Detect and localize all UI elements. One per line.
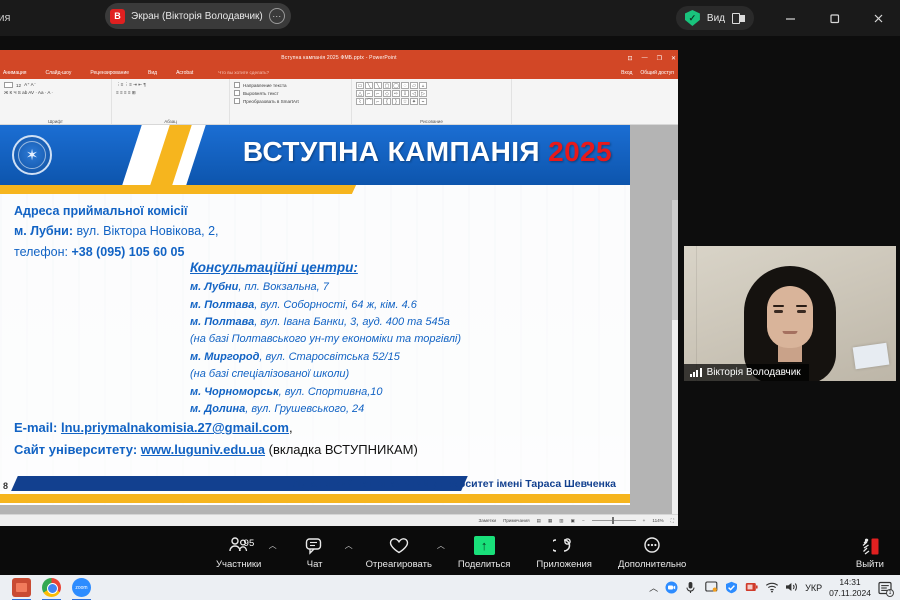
zoom-level-label: 114%	[652, 518, 663, 523]
microphone-icon[interactable]	[685, 581, 698, 594]
normal-view-icon[interactable]: ▤	[537, 518, 541, 524]
chrome-taskbar-icon[interactable]	[42, 578, 61, 597]
react-label: Отреагировать	[366, 559, 432, 570]
center-city: м. Миргород	[190, 351, 259, 363]
webcam-tile[interactable]: Вікторія Володавчик	[684, 246, 896, 381]
slide-vertical-scrollbar[interactable]	[672, 200, 678, 526]
ribbon-group-paragraph[interactable]: ⋮≡ ⋮≡ ⇥ ⇤ ¶ ≡ ≡ ≡ ≡ ⊞ Абзац	[112, 79, 230, 125]
sorter-view-icon[interactable]: ▦	[548, 518, 552, 524]
center-address: , пл. Вокзальна, 7	[238, 281, 329, 293]
close-icon[interactable]	[856, 0, 900, 36]
chevron-up-icon[interactable]: ︿	[649, 581, 658, 594]
phone-value: +38 (095) 105 60 05	[71, 245, 184, 259]
signin-link[interactable]: Вход	[621, 70, 632, 76]
address-phone-line: телефон: +38 (095) 105 60 05	[14, 242, 219, 262]
leave-door-icon	[859, 536, 881, 556]
convert-smartart-item[interactable]: Преобразовать в SmartArt	[243, 99, 299, 104]
center-item: м. Миргород, вул. Старосвітська 52/15	[190, 349, 620, 366]
participants-count: 95	[244, 538, 255, 549]
clock-date: 07.11.2024	[829, 588, 871, 598]
powerpoint-window[interactable]: Вступна кампанія 2025 ФМБ.pptx - PowerPo…	[0, 50, 678, 526]
consultation-centers-title: Консультаційні центри:	[190, 257, 620, 278]
ribbon-group-paragraph-label: Абзац	[112, 119, 229, 124]
clock-time: 14:31	[829, 577, 871, 587]
apps-icon	[553, 536, 575, 556]
leave-meeting-button[interactable]: Выйти	[856, 536, 884, 570]
slideshow-icon[interactable]: ▣	[571, 518, 575, 524]
signal-bars-icon	[690, 368, 702, 377]
center-address: , вул. Соборності, 64 ж, кім. 4.6	[254, 299, 417, 311]
chat-icon	[305, 536, 325, 556]
center-city: м. Чорноморськ	[190, 386, 279, 398]
contacts-block: E-mail: lnu.priymalnakomisia.27@gmail.co…	[14, 417, 418, 461]
notification-center-icon[interactable]: 1	[878, 581, 892, 595]
center-item: м. Долина, вул. Грушевського, 24	[190, 401, 620, 418]
minimize-icon[interactable]	[768, 0, 812, 36]
volume-icon[interactable]	[785, 581, 798, 594]
center-item: м. Лубни, пл. Вокзальна, 7	[190, 279, 620, 296]
share-screen-icon	[474, 536, 495, 555]
align-text-item[interactable]: Выровнять текст	[243, 91, 279, 96]
center-item: м. Полтава, вул. Івана Банки, 3, ауд. 40…	[190, 314, 620, 331]
apps-label: Приложения	[536, 559, 592, 570]
slide-header-banner: ✶ ВСТУПНА КАМПАНІЯ 2025	[0, 125, 630, 185]
center-city: м. Долина	[190, 403, 245, 415]
admissions-address-block: Адреса приймальної комісії м. Лубни: вул…	[14, 201, 219, 262]
participant-name: Вікторія Володавчик	[707, 367, 801, 378]
zoom-in-icon[interactable]: +	[643, 518, 646, 523]
status-notes-button[interactable]: Заметки	[479, 518, 497, 523]
email-link[interactable]: lnu.priymalnakomisia.27@gmail.com	[61, 420, 289, 435]
site-line: Сайт університету: www.luguniv.edu.ua (в…	[14, 439, 418, 461]
powerpoint-window-controls: ⊡ — ❐ ✕	[628, 50, 676, 66]
chevron-up-icon[interactable]: ︿	[269, 540, 277, 551]
view-button-label: Вид	[707, 13, 725, 24]
webcam-video-feed	[684, 246, 896, 381]
powerpoint-ribbon[interactable]: 12A⁺ A⁻ Ж К Ч S ab AV · Aa · A · Шрифт ⋮…	[0, 79, 678, 125]
powerpoint-document-title: Вступна кампанія 2025 ФМБ.pptx - PowerPo…	[281, 55, 397, 61]
center-address: , вул. Спортивна,10	[279, 386, 383, 398]
share-tab-label: Экран (Вікторія Володавчик)	[131, 11, 263, 22]
system-tray[interactable]: ︿ УКР 14:31 07.11.2024 1	[649, 577, 900, 597]
tab-review[interactable]: Рецензирование	[90, 70, 129, 76]
conference-title-partial: нция	[0, 12, 10, 24]
participants-label: Участники	[216, 559, 261, 570]
shared-screen-stage: Вступна кампанія 2025 ФМБ.pptx - PowerPo…	[0, 36, 900, 530]
center-note: (на базі спеціалізованої школи)	[190, 366, 620, 383]
react-button[interactable]: Отреагировать ︿	[366, 536, 432, 570]
powerpoint-title-bar: Вступна кампанія 2025 ФМБ.pptx - PowerPo…	[0, 50, 678, 66]
status-comments-button[interactable]: Примечания	[503, 518, 530, 523]
ribbon-group-drawing[interactable]: ▭╲╲▢◯◌▱▵ △⌐⌐◇⇨⇩◁▷ ⌇⌒⌐{}☆✦⌁ Рисование	[352, 79, 512, 125]
share-link[interactable]: Общий доступ	[640, 70, 674, 76]
notification-count: 1	[886, 589, 894, 597]
share-screen-button[interactable]: Поделиться	[458, 536, 510, 570]
consultation-centers-block: Консультаційні центри: м. Лубни, пл. Вок…	[190, 257, 620, 418]
center-item: м. Чорноморськ, вул. Спортивна,10	[190, 384, 620, 401]
more-icon	[642, 536, 662, 556]
center-item: м. Полтава, вул. Соборності, 64 ж, кім. …	[190, 297, 620, 314]
participant-name-badge: Вікторія Володавчик	[684, 364, 809, 381]
slide-header-year: 2025	[548, 136, 612, 167]
screen-share-tab[interactable]: В Экран (Вікторія Володавчик) ···	[105, 3, 291, 29]
ribbon-group-font-label: Шрифт	[0, 119, 111, 124]
powerpoint-status-bar[interactable]: Заметки Примечания ▤ ▦ ▥ ▣ − + 114% ⛶	[0, 514, 678, 526]
tab-acrobat[interactable]: Acrobat	[176, 70, 193, 76]
zoom-tray-icon[interactable]	[665, 581, 678, 594]
layout-icon	[732, 13, 745, 24]
site-link[interactable]: www.luguniv.edu.ua	[141, 442, 265, 457]
address-street: вул. Віктора Новікова, 2,	[73, 224, 218, 238]
ribbon-group-font[interactable]: 12A⁺ A⁻ Ж К Ч S ab AV · Aa · A · Шрифт	[0, 79, 112, 125]
participants-button[interactable]: 95 Участники ︿	[214, 536, 264, 570]
zoom-meeting-toolbar[interactable]: 95 Участники ︿ Чат ︿ Отреагир	[0, 530, 900, 575]
ellipsis-icon[interactable]: ···	[269, 8, 285, 24]
windows-taskbar[interactable]: ︿ УКР 14:31 07.11.2024 1	[0, 575, 900, 600]
language-indicator[interactable]: УКР	[805, 583, 822, 593]
reading-view-icon[interactable]: ▥	[559, 518, 563, 524]
text-direction-item[interactable]: Направление текста	[243, 83, 287, 88]
chat-label: Чат	[307, 559, 323, 570]
ppt-close-icon[interactable]: ✕	[671, 55, 676, 62]
share-screen-label: Поделиться	[458, 559, 510, 570]
participant-face	[767, 286, 813, 348]
phone-label: телефон:	[14, 245, 71, 259]
share-tab-badge: В	[110, 9, 125, 24]
slide-number: 8	[3, 481, 8, 491]
ppt-maximize-icon[interactable]: ❐	[657, 55, 662, 62]
ribbon-group-paragraph-extra[interactable]: Направление текста Выровнять текст Преоб…	[230, 79, 352, 125]
shield-check-icon	[685, 10, 700, 26]
zoom-slider[interactable]	[592, 520, 636, 521]
tab-animation[interactable]: Анимация	[3, 70, 26, 76]
powerpoint-slide-area[interactable]: ✶ ВСТУПНА КАМПАНІЯ 2025 Адреса приймальн…	[0, 125, 678, 526]
ribbon-group-drawing-label: Рисование	[352, 119, 511, 124]
slide-header-title-text: ВСТУПНА КАМПАНІЯ	[243, 136, 540, 167]
heart-icon	[388, 536, 410, 556]
battery-icon[interactable]	[745, 581, 758, 594]
tab-view[interactable]: Вид	[148, 70, 157, 76]
fit-slide-icon[interactable]: ⛶	[671, 518, 674, 523]
site-label: Сайт університету:	[14, 442, 141, 457]
more-label: Дополнительно	[618, 559, 686, 570]
email-line: E-mail: lnu.priymalnakomisia.27@gmail.co…	[14, 417, 418, 439]
tab-slideshow[interactable]: Слайд-шоу	[45, 70, 71, 76]
leave-meeting-label: Выйти	[856, 559, 884, 570]
zoom-title-bar: нция В Экран (Вікторія Володавчик) ··· В…	[0, 0, 900, 36]
ppt-restore-icon[interactable]: ⊡	[628, 55, 633, 62]
center-address: , вул. Старосвітська 52/15	[259, 351, 399, 363]
apps-button[interactable]: Приложения	[536, 536, 592, 570]
view-button[interactable]: Вид	[676, 6, 754, 30]
address-heading: Адреса приймальної комісії	[14, 201, 219, 221]
slide-footer: Луганський національний університет імен…	[0, 471, 630, 505]
shapes-gallery[interactable]: ▭╲╲▢◯◌▱▵ △⌐⌐◇⇨⇩◁▷ ⌇⌒⌐{}☆✦⌁	[356, 82, 507, 105]
zoom-taskbar-icon[interactable]	[72, 578, 91, 597]
taskbar-clock[interactable]: 14:31 07.11.2024	[829, 577, 871, 597]
powerpoint-account-area: Вход Общий доступ	[621, 70, 674, 76]
slide-header-title: ВСТУПНА КАМПАНІЯ 2025	[243, 136, 612, 168]
more-button[interactable]: Дополнительно	[618, 536, 686, 570]
center-note: (на базі Полтавського ун-ту економіки та…	[190, 331, 620, 348]
ppt-minimize-icon[interactable]: —	[642, 55, 648, 61]
address-city-line: м. Лубни: вул. Віктора Новікова, 2,	[14, 221, 219, 241]
security-icon[interactable]	[725, 581, 738, 594]
slide-footer-text: Луганський національний університет імен…	[293, 478, 616, 490]
chevron-up-icon[interactable]: ︿	[437, 540, 445, 551]
title-bar-right-controls: Вид	[676, 0, 900, 36]
university-seal-icon: ✶	[12, 135, 52, 175]
maximize-icon[interactable]	[812, 0, 856, 36]
center-city: м. Полтава	[190, 299, 254, 311]
center-city: м. Лубни	[190, 281, 238, 293]
email-label: E-mail:	[14, 420, 61, 435]
center-address: , вул. Грушевського, 24	[245, 403, 364, 415]
taskbar-app-list[interactable]	[12, 578, 91, 597]
center-city: м. Полтава	[190, 316, 254, 328]
wifi-icon[interactable]	[765, 581, 778, 594]
address-city: м. Лубни:	[14, 224, 73, 238]
screenshot-icon[interactable]	[705, 581, 718, 594]
email-suffix: ,	[289, 420, 293, 435]
powerpoint-ribbon-tabs[interactable]: Анимация Слайд-шоу Рецензирование Вид Ac…	[0, 66, 678, 79]
slide-canvas[interactable]: ✶ ВСТУПНА КАМПАНІЯ 2025 Адреса приймальн…	[0, 125, 630, 505]
slide-yellow-accent-bar	[0, 185, 340, 194]
chat-button[interactable]: Чат ︿	[290, 536, 340, 570]
center-address: , вул. Івана Банки, 3, ауд. 400 та 545а	[254, 316, 450, 328]
chevron-up-icon[interactable]: ︿	[345, 540, 353, 551]
powerpoint-taskbar-icon[interactable]	[12, 578, 31, 597]
tell-me-search[interactable]: Что вы хотите сделать?	[218, 70, 269, 75]
site-suffix: (вкладка ВСТУПНИКАМ)	[265, 442, 418, 457]
zoom-out-icon[interactable]: −	[582, 518, 585, 523]
